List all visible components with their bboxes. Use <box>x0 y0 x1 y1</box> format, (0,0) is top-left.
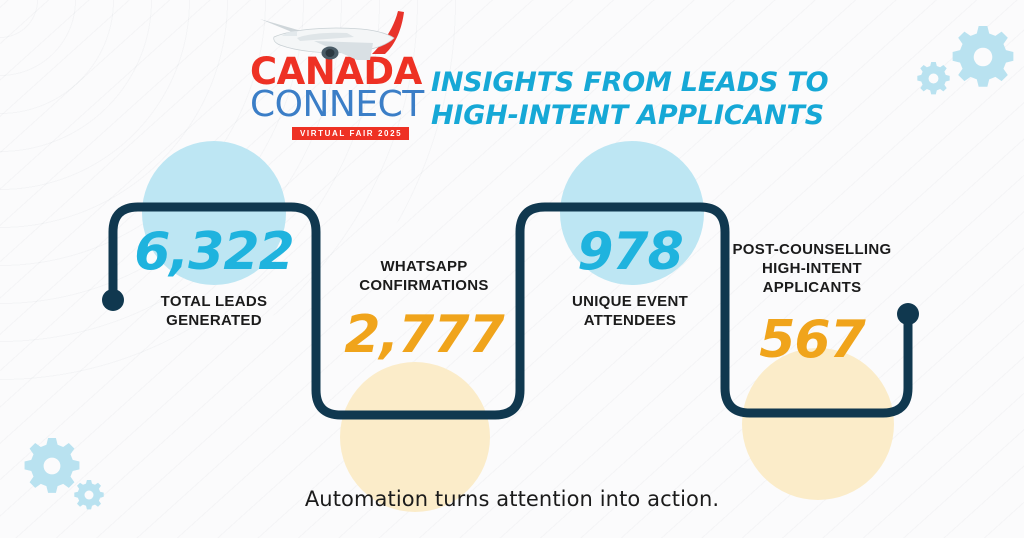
stat-value: 2,777 <box>324 309 524 361</box>
infographic-canvas: CANADA CONNECT VIRTUAL FAIR 2025 INSIGHT… <box>0 0 1024 538</box>
stat-value: 978 <box>530 226 730 278</box>
stat-label: WHATSAPP CONFIRMATIONS <box>324 257 524 295</box>
stat-item-high-intent-applicants: POST-COUNSELLING HIGH-INTENT APPLICANTS … <box>712 240 912 366</box>
stat-value: 6,322 <box>114 226 314 278</box>
stat-item-total-leads: 6,322 TOTAL LEADS GENERATED <box>114 226 314 330</box>
footer-tagline: Automation turns attention into action. <box>0 487 1024 511</box>
stat-item-whatsapp-confirmations: WHATSAPP CONFIRMATIONS 2,777 <box>324 257 524 361</box>
stat-item-unique-attendees: 978 UNIQUE EVENT ATTENDEES <box>530 226 730 330</box>
stat-label: UNIQUE EVENT ATTENDEES <box>530 292 730 330</box>
stat-label: TOTAL LEADS GENERATED <box>114 292 314 330</box>
stat-value: 567 <box>712 314 912 366</box>
stat-label: POST-COUNSELLING HIGH-INTENT APPLICANTS <box>712 240 912 298</box>
